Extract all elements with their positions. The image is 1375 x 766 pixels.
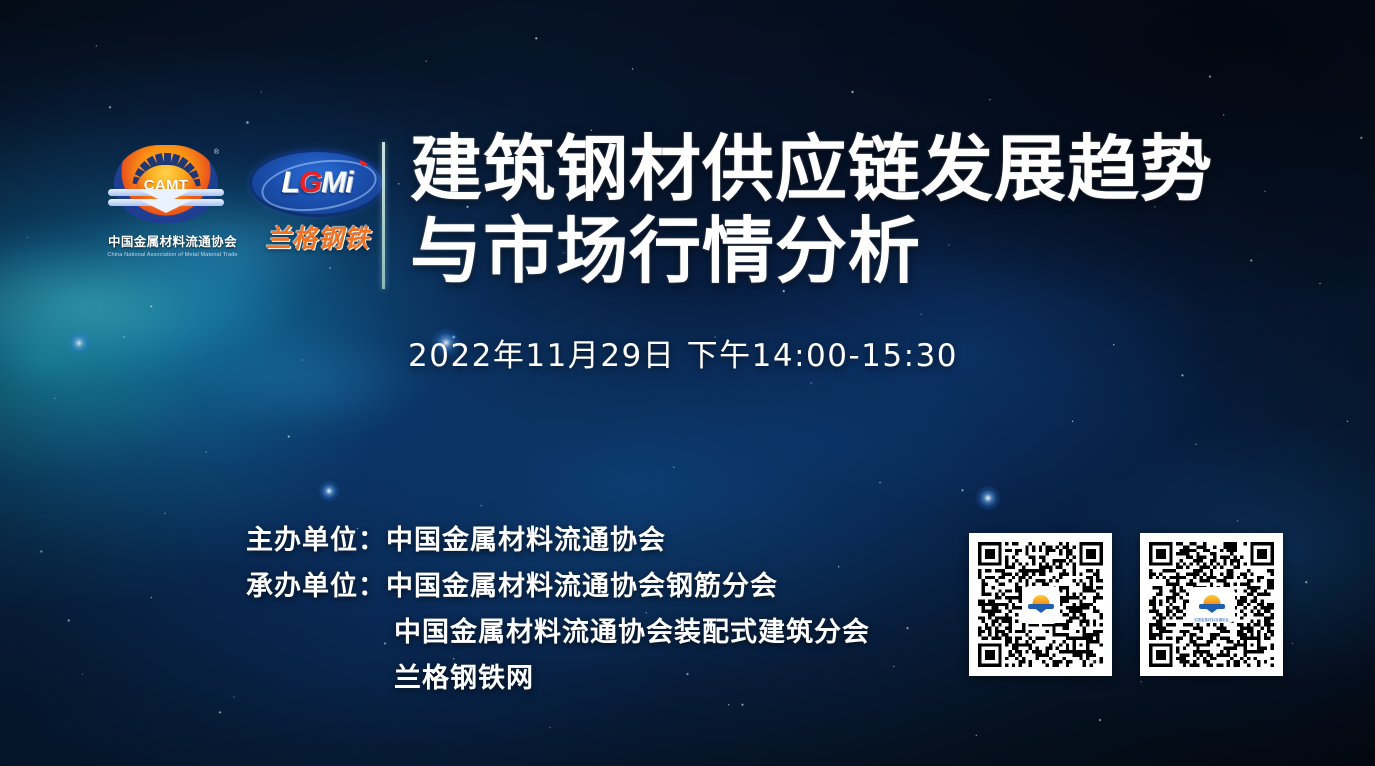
camt-name-en: China National Association of Metal Mate…	[100, 252, 245, 258]
qr-code-1-center-logo	[1024, 588, 1058, 622]
camt-name-cn: 中国金属材料流通协会	[100, 231, 245, 250]
camt-logo-mark: CAMT ®	[108, 145, 224, 228]
organizer-value-coorganizer-3: 兰格钢铁网	[394, 656, 534, 702]
event-poster: CAMT ® 中国金属材料流通协会 China National Associa…	[0, 0, 1375, 766]
organizer-label-coorganizer: 承办单位：	[246, 564, 386, 610]
organizer-value-host: 中国金属材料流通协会	[386, 518, 666, 564]
lgmi-red-dot-icon	[360, 158, 368, 166]
organizer-value-coorganizer-1: 中国金属材料流通协会钢筋分会	[386, 564, 778, 610]
title-line-1: 建筑钢材供应链发展趋势	[410, 128, 1230, 210]
lgmi-letter-i: i	[345, 166, 352, 199]
organizer-row-coorganizer-3: 兰格钢铁网	[246, 656, 946, 702]
lgmi-logo: LGMi 兰格钢铁	[248, 152, 388, 264]
title-divider	[382, 142, 385, 289]
camt-wing-icon	[108, 189, 224, 219]
organizer-block: 主办单位： 中国金属材料流通协会 承办单位： 中国金属材料流通协会钢筋分会 中国…	[246, 518, 946, 702]
camt-mini-logo-icon	[1199, 595, 1225, 615]
lgmi-oval-icon: LGMi	[252, 152, 382, 214]
event-datetime: 2022年11月29日 下午14:00-15:30	[408, 330, 958, 375]
qr-code-1-canvas[interactable]: 中金网	[978, 542, 1103, 667]
lgmi-letter-m: M	[321, 166, 345, 199]
organizer-label-host: 主办单位：	[246, 518, 386, 564]
qr-code-2-canvas[interactable]: 中国金属材料流通协会	[1149, 542, 1274, 667]
brand-logo-row: CAMT ® 中国金属材料流通协会 China National Associa…	[100, 140, 400, 290]
organizer-row-coorganizer: 承办单位： 中国金属材料流通协会钢筋分会	[246, 564, 946, 610]
qr-code-1-watermark: 中金网	[1088, 659, 1100, 665]
camt-logo: CAMT ® 中国金属材料流通协会 China National Associa…	[100, 145, 245, 273]
organizer-row-coorganizer-2: 中国金属材料流通协会装配式建筑分会	[246, 610, 946, 656]
qr-code-2-center-logo: 中国金属材料流通协会	[1191, 589, 1233, 621]
camt-mini-logo-icon	[1028, 595, 1054, 615]
title-line-2: 与市场行情分析	[410, 210, 1230, 292]
qr-code-2-sublabel: 中国金属材料流通协会	[1194, 617, 1229, 622]
lgmi-name-cn: 兰格钢铁	[248, 219, 388, 255]
lgmi-letter-g: G	[299, 166, 321, 199]
qr-code-2[interactable]: 中国金属材料流通协会	[1140, 533, 1283, 676]
organizer-row-host: 主办单位： 中国金属材料流通协会	[246, 518, 946, 564]
qr-code-1[interactable]: 中金网	[969, 533, 1112, 676]
organizer-value-coorganizer-2: 中国金属材料流通协会装配式建筑分会	[394, 610, 870, 656]
lgmi-wordmark: LGMi	[281, 168, 352, 198]
page-title: 建筑钢材供应链发展趋势 与市场行情分析	[410, 128, 1230, 292]
registered-trademark-icon: ®	[214, 149, 219, 156]
lgmi-letter-l: L	[281, 166, 298, 199]
